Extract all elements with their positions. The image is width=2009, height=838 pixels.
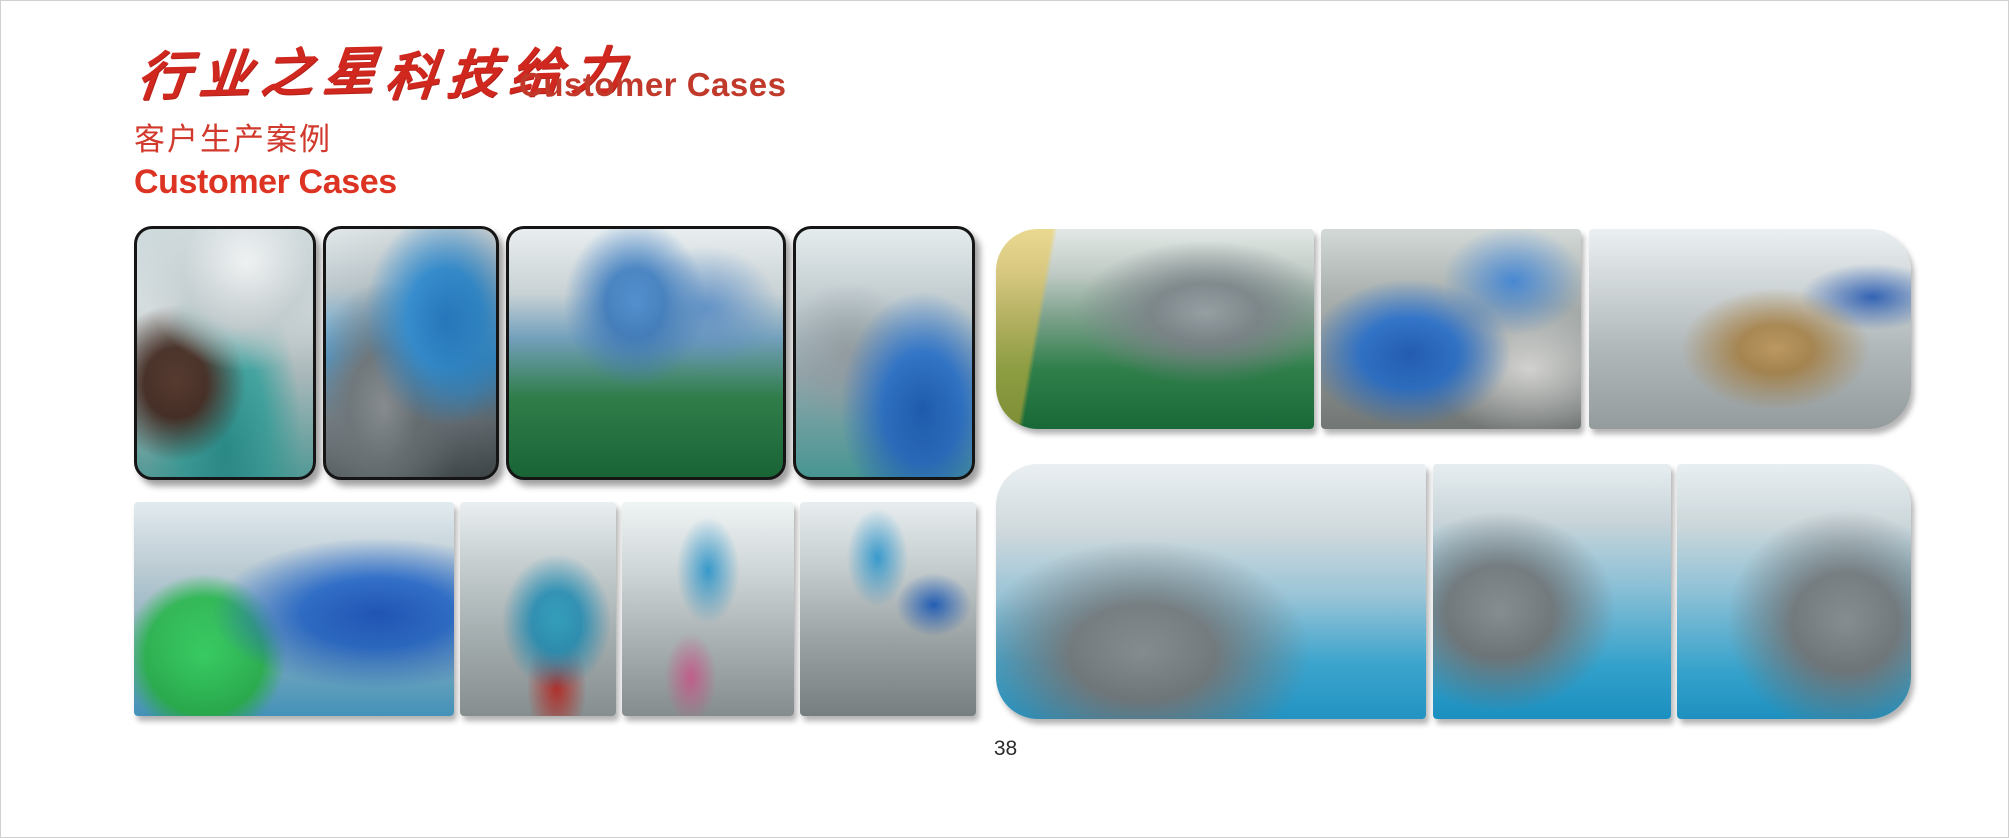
photo-top-right-2 (1321, 229, 1581, 429)
photo-top-left-4 (793, 226, 975, 480)
slide: 行业之星科技给力 Customer Cases 客户生产案例 Customer … (0, 0, 2009, 838)
photo-top-right-1 (996, 229, 1314, 429)
photo-top-left-2 (323, 226, 499, 480)
photo-top-right-3 (1589, 229, 1911, 429)
photo-bottom-right-1 (996, 464, 1426, 719)
photo-bottom-left-3 (622, 502, 794, 716)
page-number: 38 (1, 737, 2009, 761)
page-title-chinese: 客户生产案例 (134, 122, 1234, 158)
slide-header: 行业之星科技给力 Customer Cases 客户生产案例 Customer … (134, 49, 1234, 209)
photo-bottom-left-2 (460, 502, 616, 716)
photo-top-left-1 (134, 226, 316, 480)
photo-top-left-3 (506, 226, 786, 480)
photo-bottom-left-4 (800, 502, 976, 716)
page-title-english: Customer Cases (134, 163, 1234, 201)
header-english-title: Customer Cases (519, 67, 786, 103)
photo-bottom-right-3 (1677, 464, 1911, 719)
photo-bottom-right-2 (1433, 464, 1671, 719)
photo-bottom-left-1 (134, 502, 454, 716)
calligraphy-title-row: 行业之星科技给力 Customer Cases (134, 49, 1234, 111)
calligraphy-title-part1: 行业之星 (134, 43, 389, 107)
